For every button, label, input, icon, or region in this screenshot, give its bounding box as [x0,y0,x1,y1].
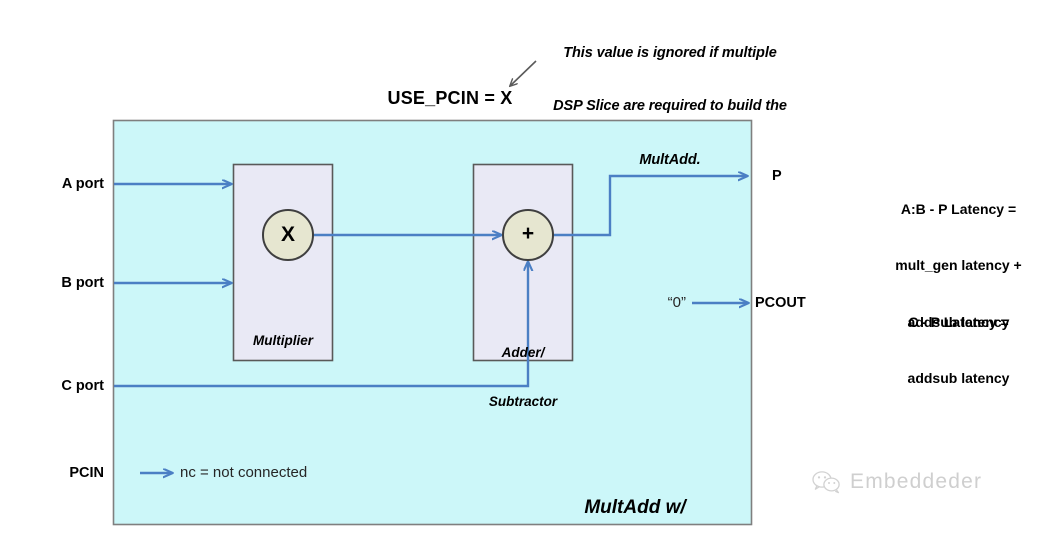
annotation-line-3: MultAdd. [505,152,835,170]
adder-block-label-line-2: Subtractor [474,394,572,410]
adder-block-label-line-1: Adder/ [474,345,572,361]
plus-operator-glyph: + [503,221,553,247]
pcout-source-label: “0” [620,294,686,312]
panel-title: MultAdd w/ Multiple DSP Slice [510,450,760,535]
annotation-line-1: This value is ignored if multiple [505,45,835,63]
watermark: Embeddeder [812,470,982,494]
latency-note-c-p-line-2: addsub latency [866,369,1051,388]
watermark-text: Embeddeder [850,470,982,494]
output-label-p: P [772,168,782,186]
page-title: USE_PCIN = X [300,88,600,110]
port-label-c: C port [0,378,104,396]
port-label-b: B port [0,275,104,293]
wechat-icon [812,470,842,494]
panel-title-line-1: MultAdd w/ [510,496,760,519]
multiplier-block [234,165,333,361]
latency-note-c-p: C - P Latency = addsub latency [866,275,1051,426]
port-label-pcin: PCIN [0,465,104,483]
latency-note-ab-p-line-1: A:B - P Latency = [866,200,1051,219]
multiply-operator-glyph: X [263,222,313,248]
port-label-a: A port [0,176,104,194]
output-label-pcout: PCOUT [755,295,806,313]
latency-note-ab-p-line-2: mult_gen latency + [866,256,1051,275]
multiplier-block-label: Multiplier [234,333,332,349]
adder-block-label: Adder/ Subtractor [474,312,572,444]
pcin-note: nc = not connected [180,464,307,482]
diagram-canvas: This value is ignored if multiple DSP Sl… [0,0,1051,535]
latency-note-c-p-line-1: C - P Latency = [866,313,1051,332]
